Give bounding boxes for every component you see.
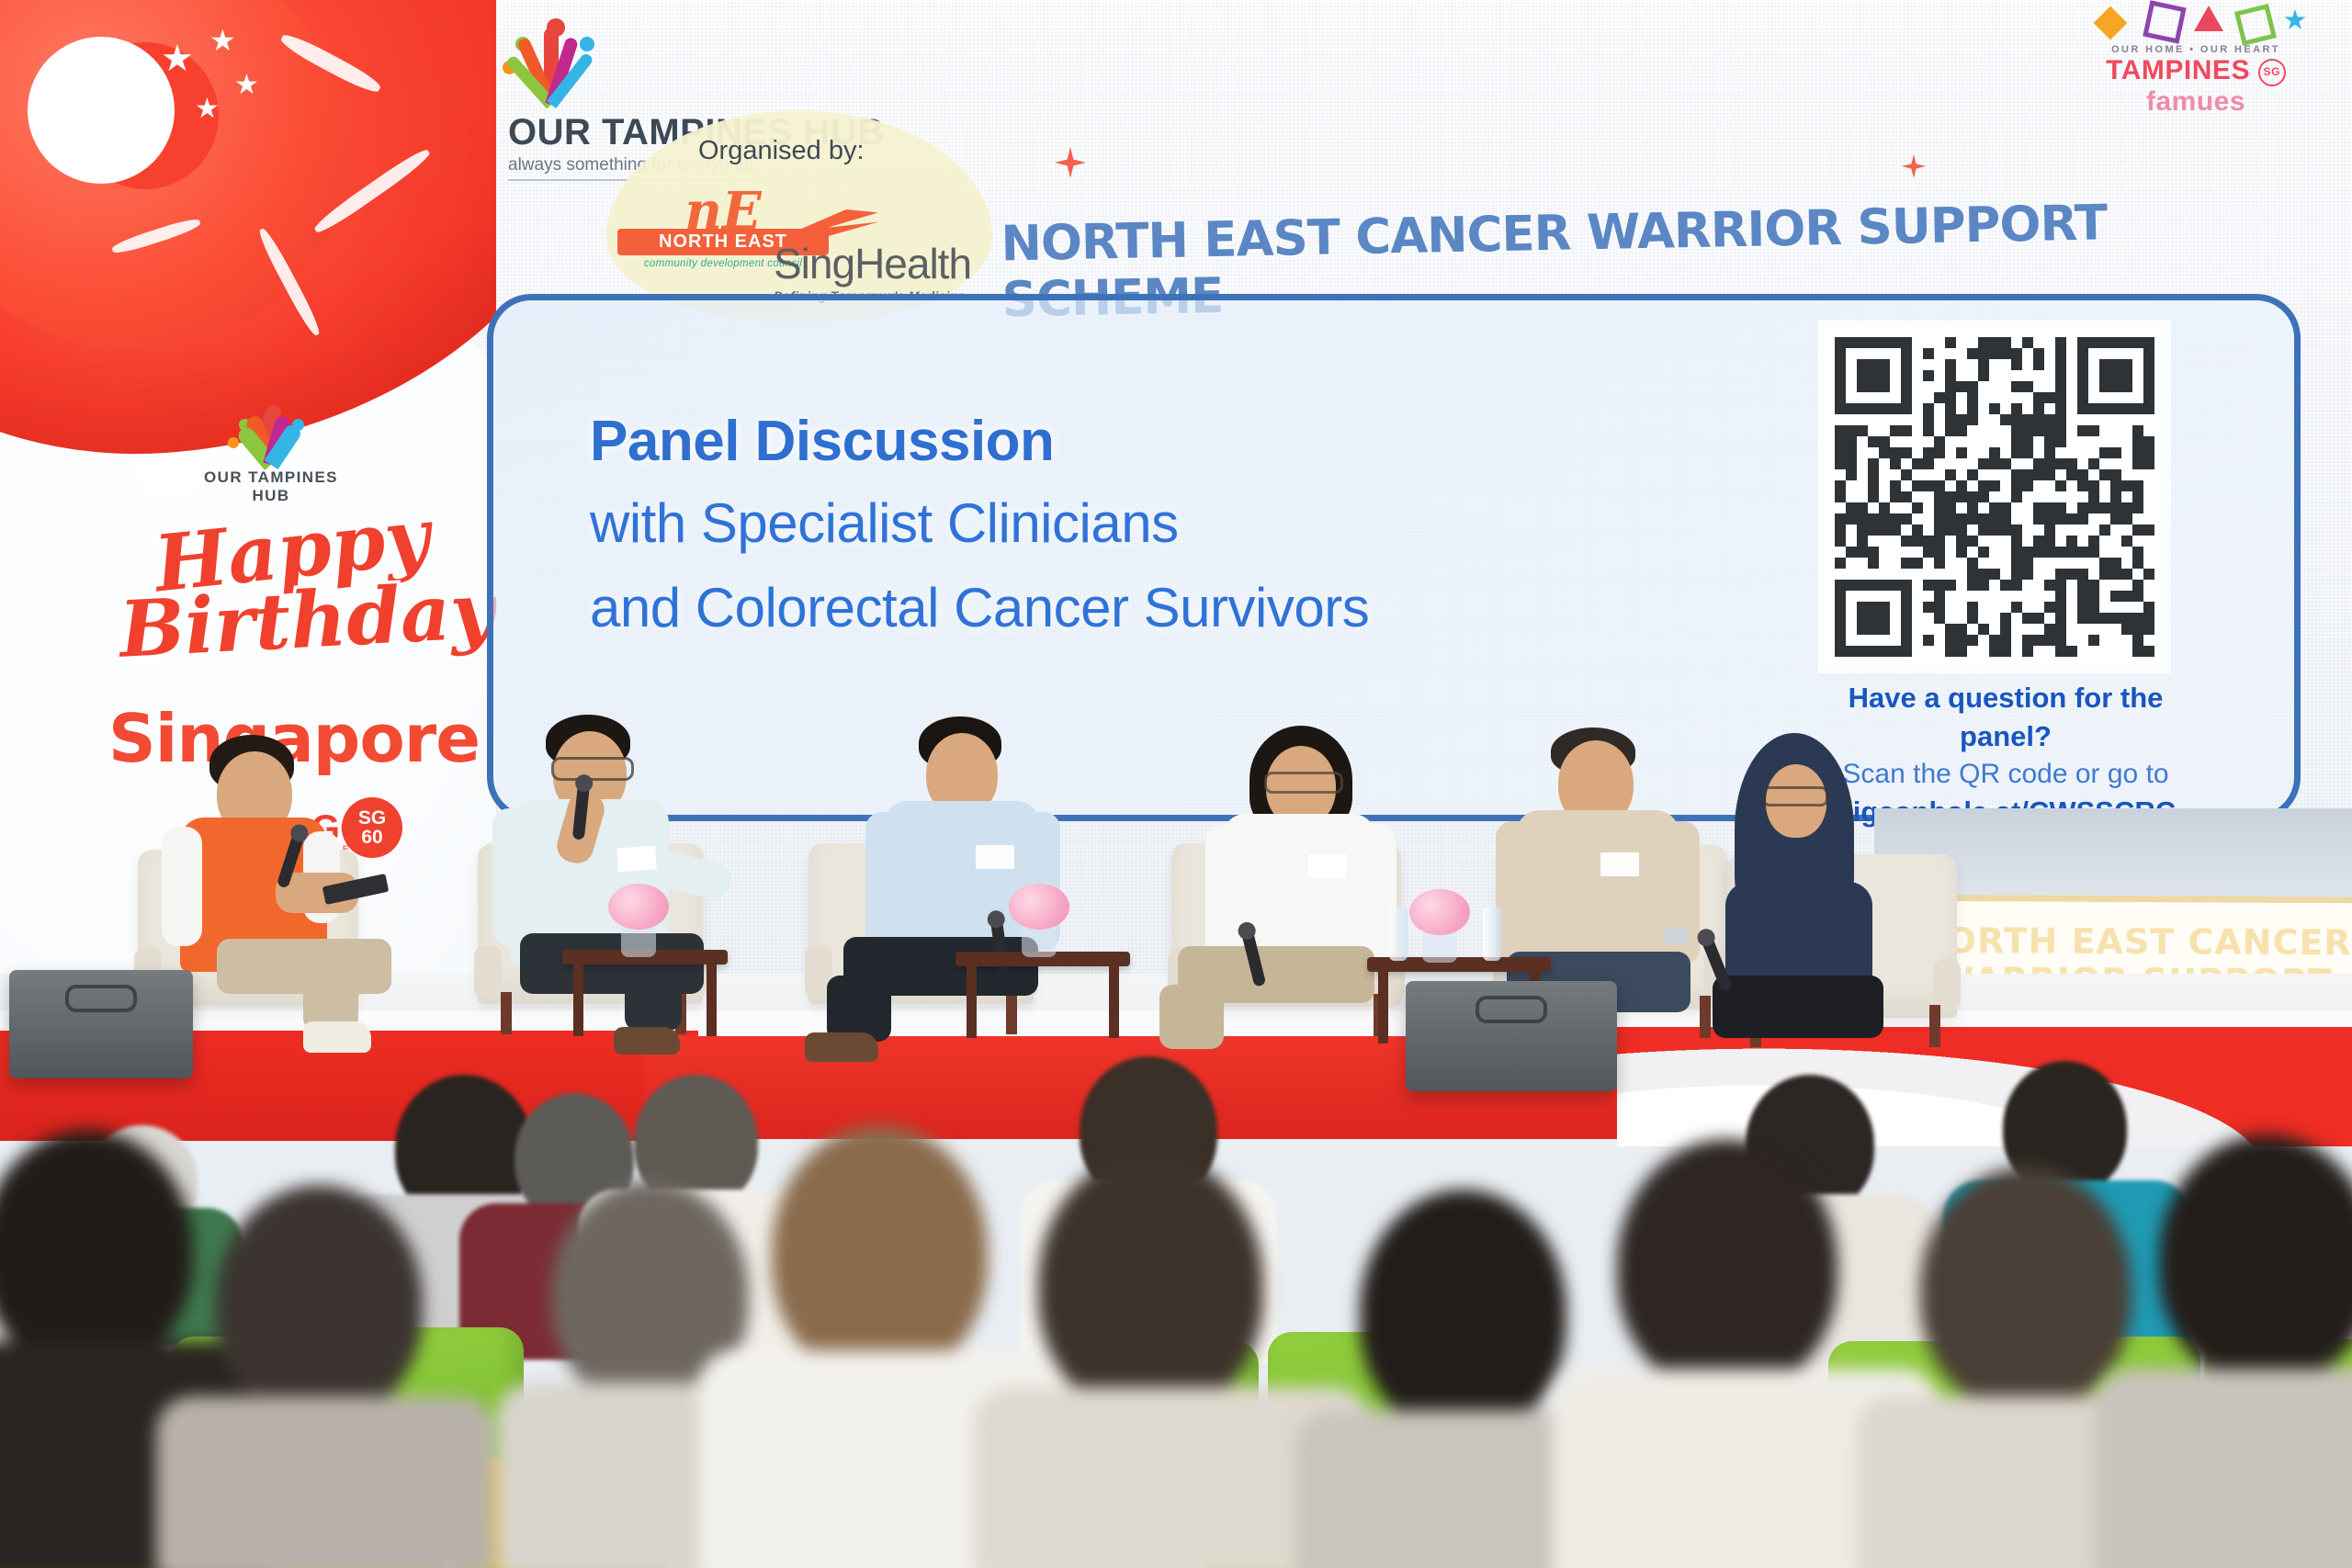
name-badge	[1600, 852, 1639, 876]
happy-birthday-script: Happy Birthday	[108, 514, 476, 657]
slide-subtitle-2: and Colorectal Cancer Survivors	[590, 576, 1369, 639]
flower-bloom	[608, 884, 669, 930]
name-badge	[616, 846, 657, 873]
glasses-icon	[551, 757, 634, 781]
event-photo-scene: ★ ★ ★ ★ ★	[0, 0, 2352, 1568]
famues-wordmark: TAMPINES SG famues	[2058, 55, 2334, 118]
singhealth-swoosh-icon	[794, 209, 878, 241]
singhealth-logo: SingHealth Defining Tomorrow's Medicine	[774, 209, 1003, 303]
greeting-line-3: Singapore	[101, 700, 487, 777]
qr-instruction: Scan the QR code or go to	[1826, 756, 2186, 794]
glasses-icon	[1762, 786, 1828, 807]
slide-content-card: Panel Discussion with Specialist Clinici…	[487, 294, 2301, 821]
water-bottle	[1389, 908, 1408, 961]
slide-title: Panel Discussion	[590, 409, 1054, 474]
flower-bloom	[1009, 884, 1069, 930]
wristwatch	[1665, 928, 1689, 944]
name-badge	[976, 845, 1014, 869]
flower-bloom	[1409, 889, 1470, 935]
glasses-icon	[1264, 772, 1343, 794]
singhealth-wordmark: SingHealth	[774, 239, 1003, 288]
qr-block: Have a question for the panel? Scan the …	[1826, 328, 2186, 831]
qr-prompt: Have a question for the panel?	[1826, 679, 2186, 756]
water-bottle	[1483, 908, 1501, 961]
name-badge	[1308, 854, 1347, 878]
tampines-famues-logo: OUR HOME • OUR HEART TAMPINES SG famues	[2058, 4, 2334, 118]
sg60-logo: SG 60	[342, 797, 402, 858]
qr-code[interactable]	[1826, 328, 2164, 666]
oth-logo-label: OUR TAMPINES HUB	[198, 468, 345, 505]
famues-confetti-icons	[2058, 4, 2334, 44]
our-tampines-hub-logo-small: OUR TAMPINES HUB	[198, 404, 345, 505]
famues-top-label: OUR HOME • OUR HEART	[2058, 44, 2334, 55]
sg-badge-icon: SG	[2258, 59, 2286, 86]
greeting-line-2: Birthday	[118, 575, 488, 665]
organised-by-label: Organised by:	[698, 136, 865, 166]
slide-subtitle-1: with Specialist Clinicians	[590, 491, 1179, 555]
audience-area	[0, 955, 2352, 1568]
